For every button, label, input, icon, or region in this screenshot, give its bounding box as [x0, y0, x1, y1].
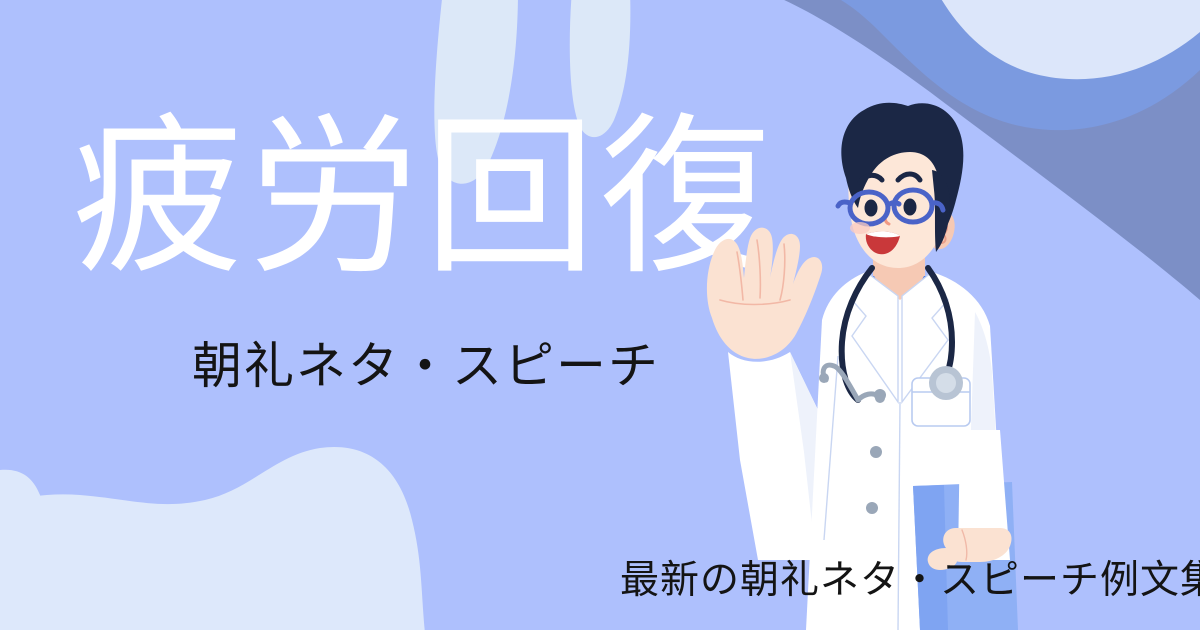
footer-caption: 最新の朝礼ネタ・スピーチ例文集 [620, 561, 1200, 600]
banner-root: 疲労回復 朝礼ネタ・スピーチ [0, 0, 1200, 630]
clipboard-and-hand [0, 0, 1200, 630]
